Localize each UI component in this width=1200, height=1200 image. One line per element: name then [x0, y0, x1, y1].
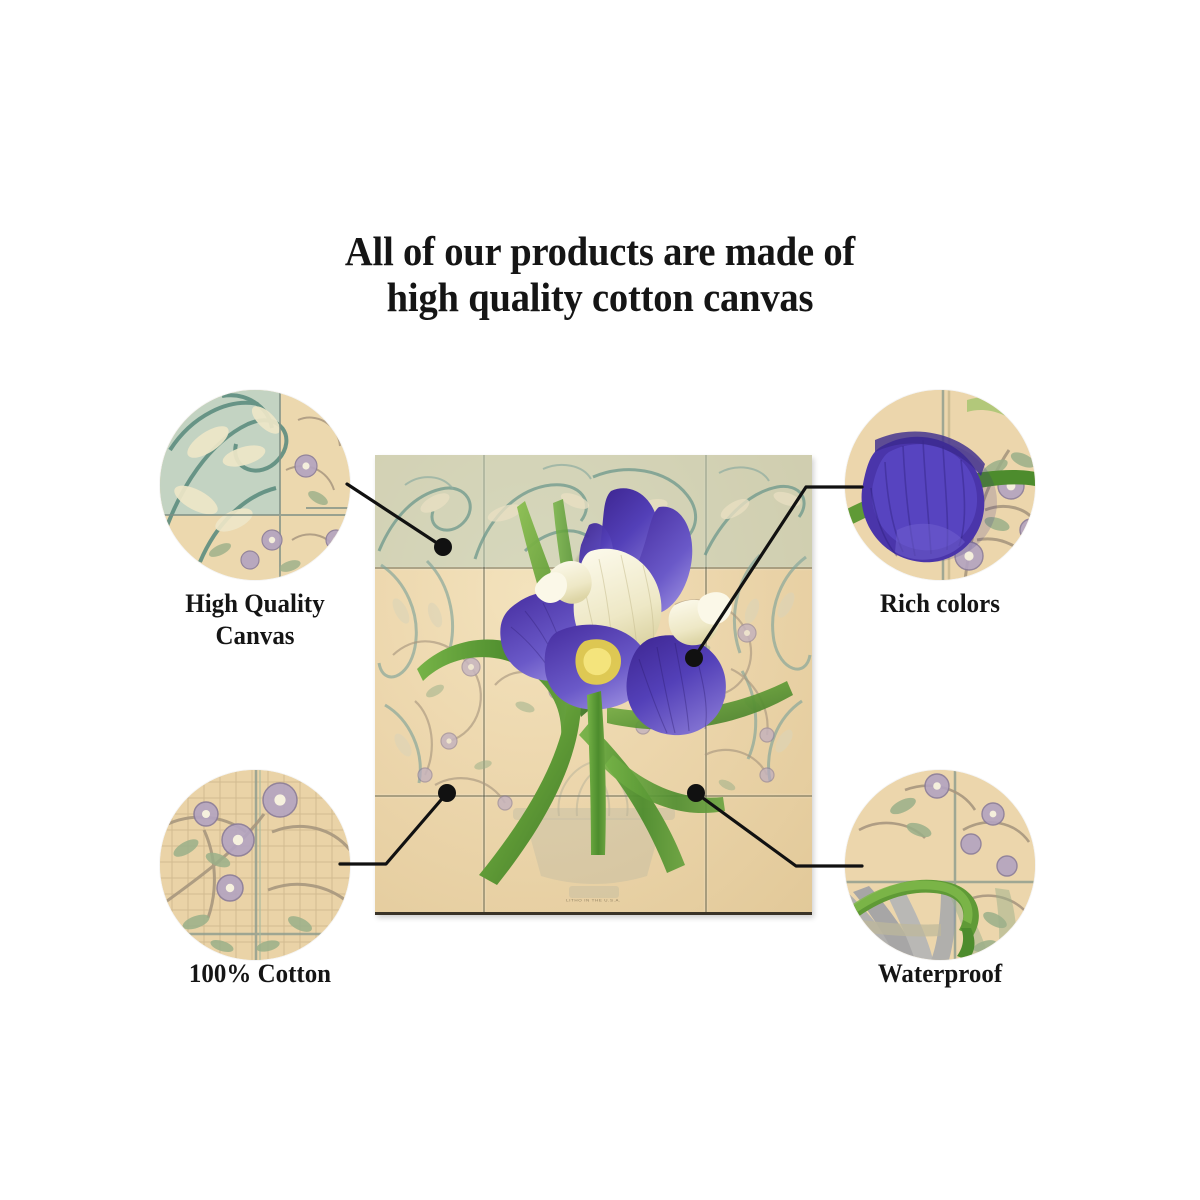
page-title: All of our products are made of high qua…	[36, 228, 1164, 320]
callout-detail-cotton	[160, 770, 350, 960]
callout-detail-high-quality-canvas	[160, 390, 350, 580]
page-title-line-2: high quality cotton canvas	[36, 274, 1164, 320]
artwork-credit-text: LITHO IN THE U.S.A.	[566, 899, 621, 903]
callout-detail-waterproof	[845, 770, 1035, 960]
callout-detail-rich-colors	[845, 390, 1035, 580]
artwork-iris-flower	[375, 455, 812, 912]
callout-label-waterproof: Waterproof	[825, 958, 1055, 990]
callout-label-cotton: 100% Cotton	[126, 958, 395, 990]
callout-label-high-quality-canvas: High Quality Canvas	[130, 588, 380, 652]
callout-detail-image-waterproof	[845, 770, 1035, 960]
product-artwork: LITHO IN THE U.S.A.	[375, 455, 812, 915]
callout-detail-image-canvas	[160, 390, 350, 580]
callout-label-rich-colors: Rich colors	[834, 588, 1045, 620]
page-title-line-1: All of our products are made of	[36, 228, 1164, 274]
callout-detail-image-petal	[845, 390, 1035, 580]
callout-detail-image-cotton	[160, 770, 350, 960]
